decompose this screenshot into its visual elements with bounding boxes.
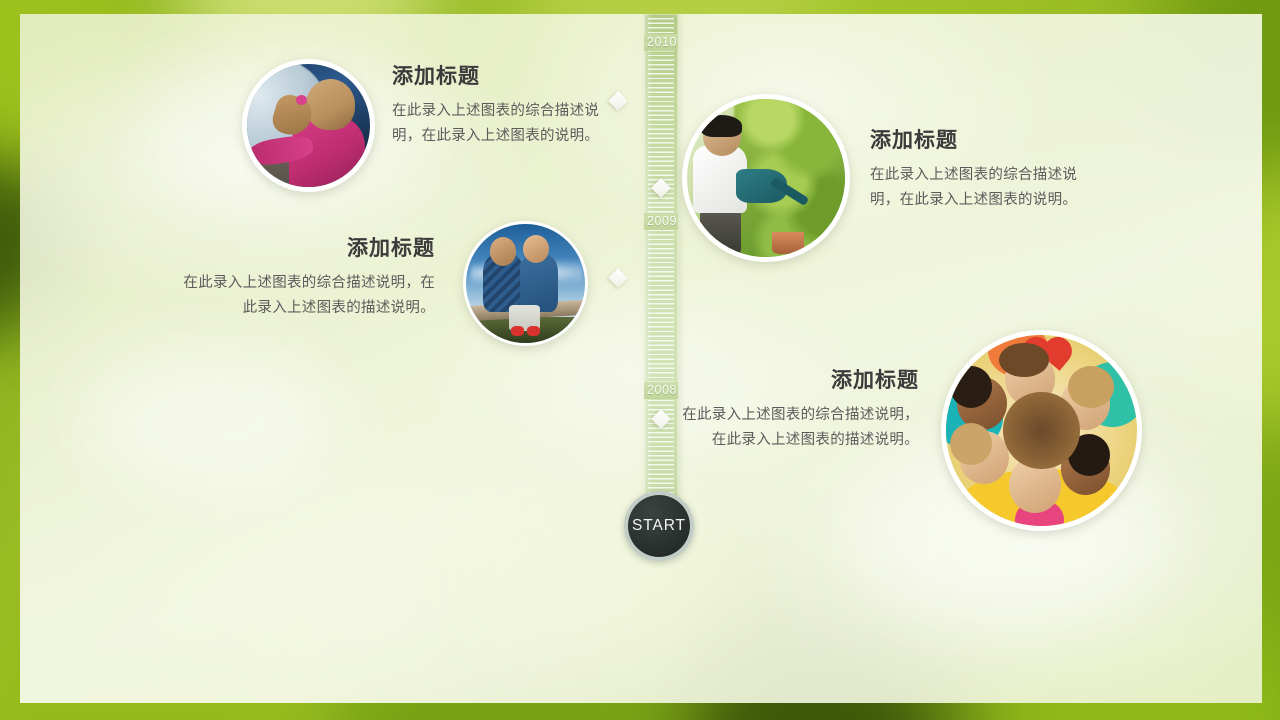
timeline-entry-1: 添加标题 在此录入上述图表的综合描述说明，在此录入上述图表的说明。 [392, 60, 614, 149]
panel-highlight [440, 484, 740, 654]
photo-image-area [247, 64, 370, 187]
start-button-label: START [632, 517, 686, 535]
entry-body: 在此录入上述图表的综合描述说明，在此录入上述图表的描述说明。 [675, 403, 919, 453]
panel-highlight [80, 344, 340, 494]
photo-boy-watering-can[interactable] [682, 94, 850, 262]
image-child-denim [520, 255, 558, 312]
timeline-entry-4: 添加标题 在此录入上述图表的综合描述说明，在此录入上述图表的描述说明。 [675, 364, 919, 453]
start-button[interactable]: START [624, 491, 694, 561]
ruler-gloss [644, 14, 653, 514]
photo-kids-circle-heads[interactable] [941, 330, 1142, 531]
year-label-2009: 2009 [640, 214, 684, 228]
image-hair-center-cluster [1003, 392, 1079, 468]
image-red-shoe-right [527, 326, 540, 336]
image-red-shoe-left [511, 326, 524, 336]
image-child-hair-2 [999, 343, 1049, 377]
photo-image-area [946, 335, 1137, 526]
image-child-hair-3 [1068, 366, 1114, 408]
image-boy-hair [701, 115, 742, 137]
image-trousers [700, 210, 741, 254]
entry-body: 在此录入上述图表的综合描述说明，在此录入上述图表的说明。 [870, 163, 1086, 213]
timeline-ruler [644, 14, 678, 514]
timeline-entry-2: 添加标题 在此录入上述图表的综合描述说明，在此录入上述图表的描述说明。 [180, 232, 435, 321]
entry-title: 添加标题 [392, 60, 614, 90]
image-hair-band [296, 95, 307, 105]
photo-image-area [466, 224, 585, 343]
entry-title: 添加标题 [675, 364, 919, 394]
image-child-head-left [490, 237, 516, 266]
year-label-2010: 2010 [640, 35, 684, 49]
entry-title: 添加标题 [870, 124, 1086, 154]
image-child-hair-1 [950, 366, 992, 408]
year-label-2008: 2008 [640, 383, 684, 397]
entry-title: 添加标题 [180, 232, 435, 262]
photo-two-kids-bench[interactable] [463, 221, 588, 346]
image-child-hair-4 [950, 423, 992, 465]
timeline-marker-3[interactable] [608, 268, 628, 288]
image-flower-pot [772, 232, 804, 254]
image-girl-head [306, 79, 355, 131]
slide-panel: 2010 2009 2008 START [20, 14, 1262, 703]
entry-body: 在此录入上述图表的综合描述说明，在此录入上述图表的说明。 [392, 99, 614, 149]
photo-girl-teddy-moon[interactable] [242, 59, 375, 192]
timeline-entry-3: 添加标题 在此录入上述图表的综合描述说明，在此录入上述图表的说明。 [870, 124, 1086, 213]
entry-body: 在此录入上述图表的综合描述说明，在此录入上述图表的描述说明。 [180, 271, 435, 321]
photo-image-area [687, 99, 845, 257]
